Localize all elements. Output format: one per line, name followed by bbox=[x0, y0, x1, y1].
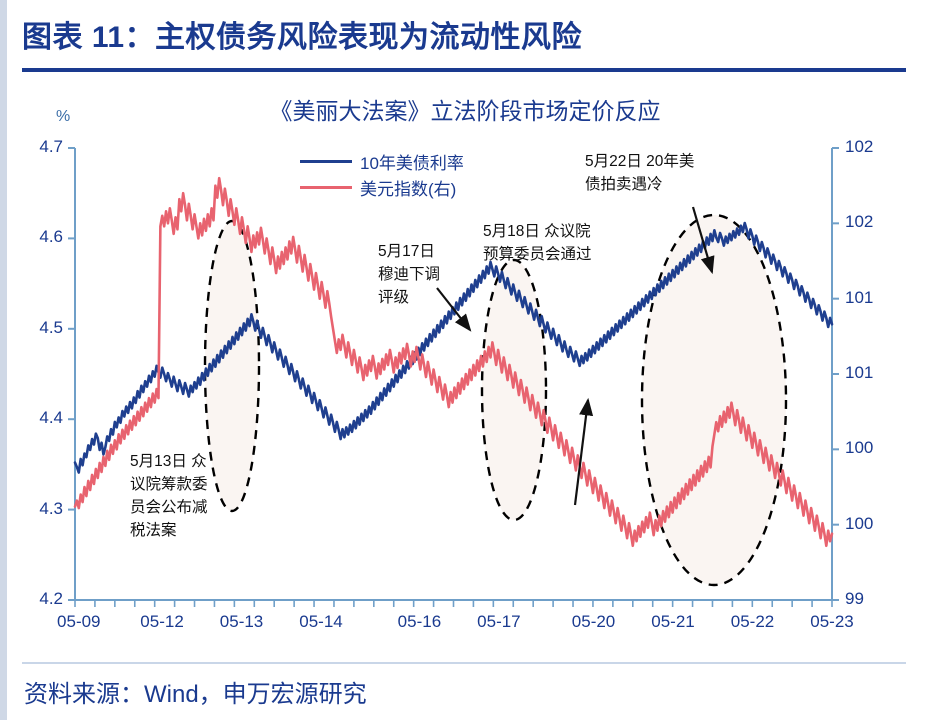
annot-may13-line-2: 员会公布减 bbox=[130, 496, 260, 519]
legend-item-dxy[interactable]: 美元指数(右) bbox=[300, 174, 560, 200]
x-axis-tick-label-2: 05-13 bbox=[207, 612, 277, 632]
arrow-may22 bbox=[693, 207, 712, 272]
header-divider bbox=[22, 68, 906, 72]
footer-divider bbox=[22, 662, 906, 664]
y-axis-right-tick-label-2: 100 bbox=[845, 438, 891, 458]
ellipse-may18 bbox=[482, 260, 546, 520]
annot-may17-line-0: 5月17日 bbox=[378, 240, 488, 263]
annot-may13-line-0: 5月13日 众 bbox=[130, 450, 260, 473]
y-axis-left-tick-label-5: 4.7 bbox=[17, 137, 63, 157]
chart-title: 《美丽大法案》立法阶段市场定价反应 bbox=[0, 92, 930, 126]
x-axis-tick-label-8: 05-22 bbox=[718, 612, 788, 632]
y-axis-left-tick-label-2: 4.4 bbox=[17, 408, 63, 428]
x-axis-tick-label-7: 05-21 bbox=[638, 612, 708, 632]
annot-may22: 5月22日 20年美债拍卖遇冷 bbox=[585, 150, 745, 196]
x-axis-tick-label-9: 05-23 bbox=[797, 612, 867, 632]
annot-may18: 5月18日 众议院预算委员会通过 bbox=[483, 220, 643, 266]
y-axis-unit-label: % bbox=[56, 108, 70, 126]
x-axis-tick-label-4: 05-16 bbox=[384, 612, 454, 632]
y-axis-right-tick-label-4: 101 bbox=[845, 288, 891, 308]
x-axis-tick-label-6: 05-20 bbox=[559, 612, 629, 632]
x-axis-tick-label-3: 05-14 bbox=[286, 612, 356, 632]
page-title: 图表 11：主权债务风险表现为流动性风险 bbox=[22, 18, 912, 58]
figure-header: 图表 11：主权债务风险表现为流动性风险 bbox=[22, 18, 912, 76]
arrow-may21 bbox=[575, 400, 588, 505]
y-axis-left-tick-label-4: 4.6 bbox=[17, 227, 63, 247]
annot-may22-line-0: 5月22日 20年美 bbox=[585, 150, 745, 173]
x-axis-tick-label-0: 05-09 bbox=[44, 612, 114, 632]
x-axis-tick-label-1: 05-12 bbox=[127, 612, 197, 632]
annot-may17: 5月17日穆迪下调评级 bbox=[378, 240, 488, 309]
ellipse-may22 bbox=[642, 215, 786, 585]
y-axis-right-tick-label-6: 102 bbox=[845, 137, 891, 157]
legend-swatch-dxy bbox=[300, 186, 352, 189]
annot-may22-line-1: 债拍卖遇冷 bbox=[585, 173, 745, 196]
chart-legend: 10年美债利率 美元指数(右) bbox=[300, 148, 560, 200]
legend-swatch-treasury bbox=[300, 160, 352, 163]
y-axis-right-tick-label-3: 101 bbox=[845, 363, 891, 383]
y-axis-right-tick-label-0: 99 bbox=[845, 589, 891, 609]
y-axis-left-tick-label-1: 4.3 bbox=[17, 499, 63, 519]
legend-label-dxy: 美元指数(右) bbox=[360, 175, 456, 200]
y-axis-left-tick-label-3: 4.5 bbox=[17, 318, 63, 338]
annot-may13-line-1: 议院筹款委 bbox=[130, 473, 260, 496]
y-axis-left-tick-label-0: 4.2 bbox=[17, 589, 63, 609]
y-axis-right-tick-label-5: 102 bbox=[845, 212, 891, 232]
x-axis-tick-label-5: 05-17 bbox=[464, 612, 534, 632]
source-note: 资料来源：Wind，申万宏源研究 bbox=[24, 674, 367, 709]
legend-label-treasury: 10年美债利率 bbox=[360, 149, 464, 174]
annot-may13-line-3: 税法案 bbox=[130, 519, 260, 542]
annot-may18-line-1: 预算委员会通过 bbox=[483, 243, 643, 266]
annot-may13: 5月13日 众议院筹款委员会公布减税法案 bbox=[130, 450, 260, 542]
annot-may18-line-0: 5月18日 众议院 bbox=[483, 220, 643, 243]
figure-page: 图表 11：主权债务风险表现为流动性风险 《美丽大法案》立法阶段市场定价反应 %… bbox=[0, 0, 930, 720]
legend-item-treasury[interactable]: 10年美债利率 bbox=[300, 148, 560, 174]
annot-may17-line-1: 穆迪下调 bbox=[378, 263, 488, 286]
y-axis-right-tick-label-1: 100 bbox=[845, 514, 891, 534]
annot-may17-line-2: 评级 bbox=[378, 286, 488, 309]
